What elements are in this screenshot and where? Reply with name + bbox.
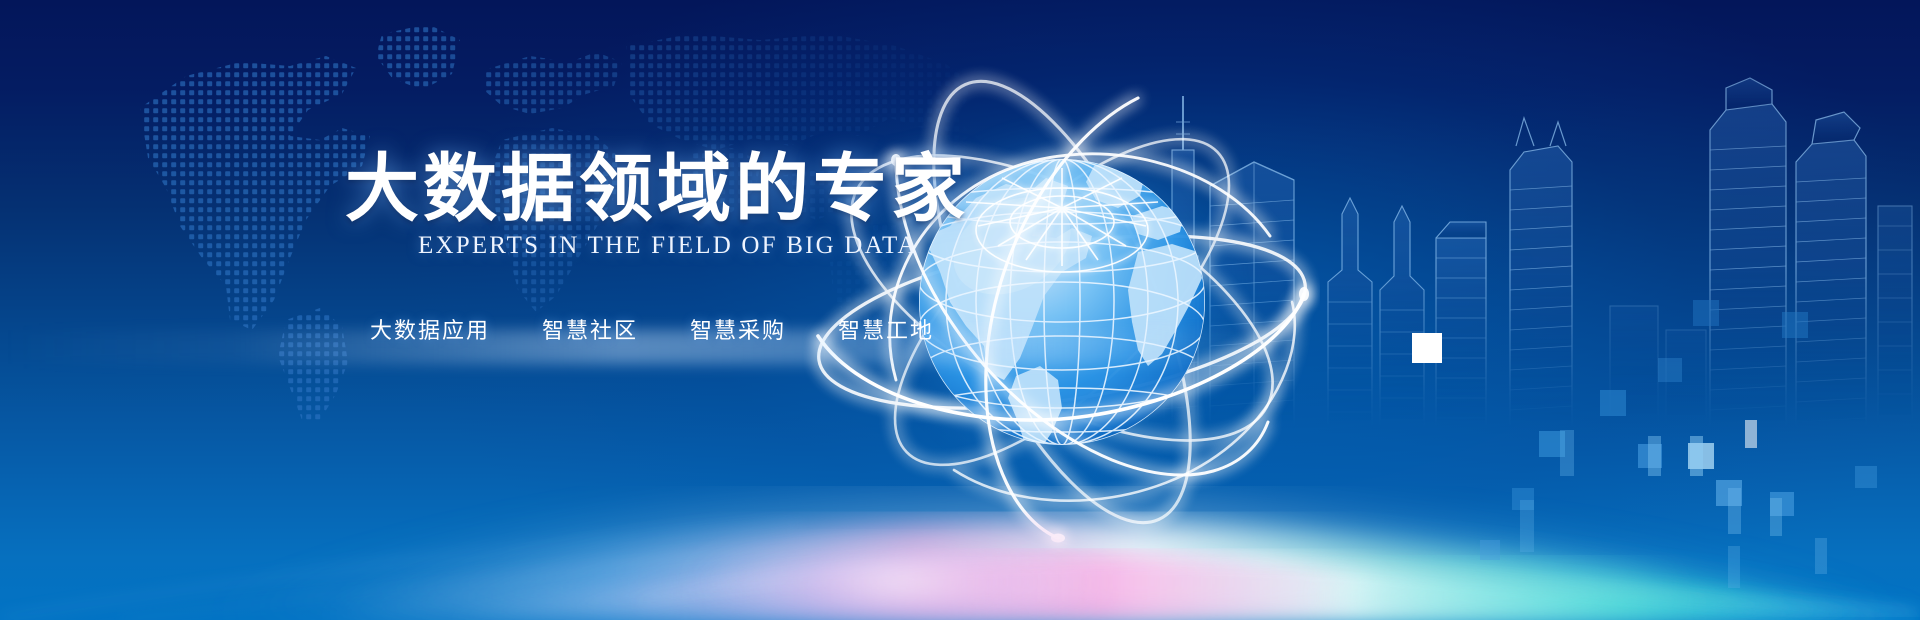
keyword-item-0[interactable]: 大数据应用	[370, 313, 490, 345]
keyword-nav: 大数据应用 智慧社区 智慧采购 智慧工地	[370, 313, 934, 345]
city-skyline-icon	[910, 0, 1920, 430]
banner-copy: 大数据领域的专家 EXPERTS IN THE FIELD OF BIG DAT…	[0, 0, 1000, 620]
hero-banner: 大数据领域的专家 EXPERTS IN THE FIELD OF BIG DAT…	[0, 0, 1920, 620]
keyword-item-1[interactable]: 智慧社区	[542, 313, 638, 345]
keyword-item-3[interactable]: 智慧工地	[838, 313, 934, 345]
keyword-item-2[interactable]: 智慧采购	[690, 313, 786, 345]
page-title: 大数据领域的专家	[345, 152, 969, 226]
page-subtitle: EXPERTS IN THE FIELD OF BIG DATA	[418, 232, 918, 260]
